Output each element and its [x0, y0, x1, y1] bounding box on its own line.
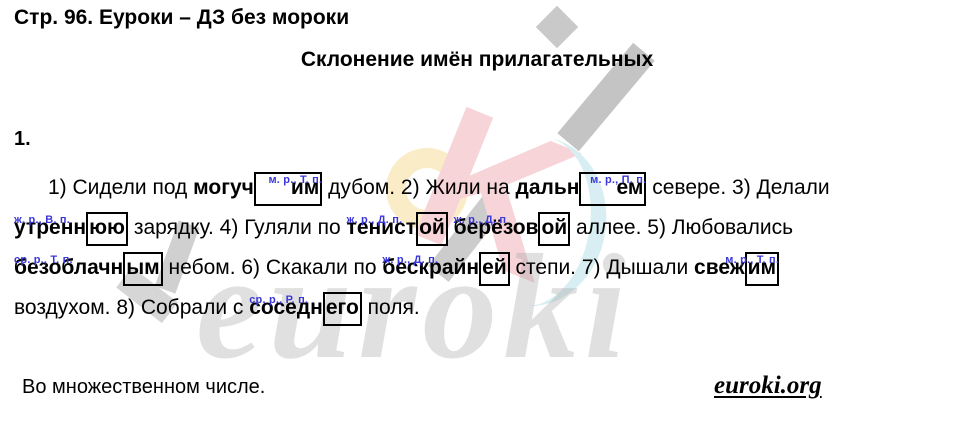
page-header: Стр. 96. Еуроки – ДЗ без мороки — [14, 6, 349, 30]
marked-adjective: ср. р., Т. п.безоблачным — [14, 256, 163, 279]
adjective-ending-box: ым — [123, 252, 162, 286]
sentence-text: поля. — [362, 296, 420, 319]
marked-adjective: ж. р., Д. п.бескрайней — [382, 256, 509, 279]
grammar-annotation: ж. р., В. п. — [14, 200, 70, 240]
bottom-note: Во множественном числе. — [22, 376, 265, 399]
sentence-text: степи. 7) Дышали — [510, 256, 694, 279]
grammar-annotation: ср. р., Т. п. — [14, 240, 73, 280]
exercise-number: 1. — [14, 128, 31, 151]
sentence-text: воздухом. 8) Собрали с — [14, 296, 249, 319]
adjective-ending-box: его — [323, 292, 362, 326]
worksheet-page: K euroki Стр. 96. Еуроки – ДЗ без мороки… — [0, 0, 954, 424]
marked-adjective: ж. р., В. п.утреннюю — [14, 216, 128, 239]
exercise-line: ср. р., Т. п.безоблачным небом. 6) Скака… — [14, 248, 940, 288]
grammar-annotation: ср. р., Р. п. — [249, 280, 308, 320]
exercise-line: воздухом. 8) Собрали с ср. р., Р. п.сосе… — [14, 288, 940, 328]
brand-link[interactable]: euroki.org — [714, 372, 822, 400]
sentence-text: 1) Сидели под — [48, 176, 193, 199]
watermark-diamond-shape — [536, 6, 578, 48]
page-title: Склонение имён прилагательных — [0, 48, 954, 72]
adjective-ending-box: ей — [479, 252, 510, 286]
grammar-annotation: ж. р., Д. п. — [347, 200, 403, 240]
marked-adjective: м. р., Т. п.свежим — [694, 256, 779, 279]
grammar-annotation: м. р., Т. п. — [234, 160, 322, 200]
grammar-annotation: м. р., Т. п. — [725, 240, 779, 280]
exercise-body: 1) Сидели под м. р., Т. п.могучим дубом.… — [14, 168, 940, 328]
sentence-text: зарядку. 4) Гуляли по — [128, 216, 347, 239]
sentence-text: аллее. 5) Любовались — [570, 216, 793, 239]
sentence-text: дубом. 2) Жили на — [322, 176, 515, 199]
grammar-annotation: ж. р., Д. п. — [382, 240, 438, 280]
adjective-ending-box: ой — [538, 212, 570, 246]
grammar-annotation: м. р., П. п. — [556, 160, 646, 200]
exercise-line: ж. р., В. п.утреннюю зарядку. 4) Гуляли … — [14, 208, 940, 248]
marked-adjective: м. р., П. п.дальнем — [516, 176, 647, 199]
sentence-text: небом. 6) Скакали по — [163, 256, 383, 279]
sentence-text: севере. 3) Делали — [646, 176, 829, 199]
marked-adjective: м. р., Т. п.могучим — [193, 176, 322, 199]
marked-adjective: ж. р., Д. п.тенистой — [347, 216, 448, 239]
marked-adjective: ср. р., Р. п.соседнего — [249, 296, 362, 319]
adjective-ending-box: юю — [86, 212, 128, 246]
grammar-annotation: ж. р., Д. п — [454, 200, 507, 240]
marked-adjective: ж. р., Д. пберёзовой — [454, 216, 571, 239]
